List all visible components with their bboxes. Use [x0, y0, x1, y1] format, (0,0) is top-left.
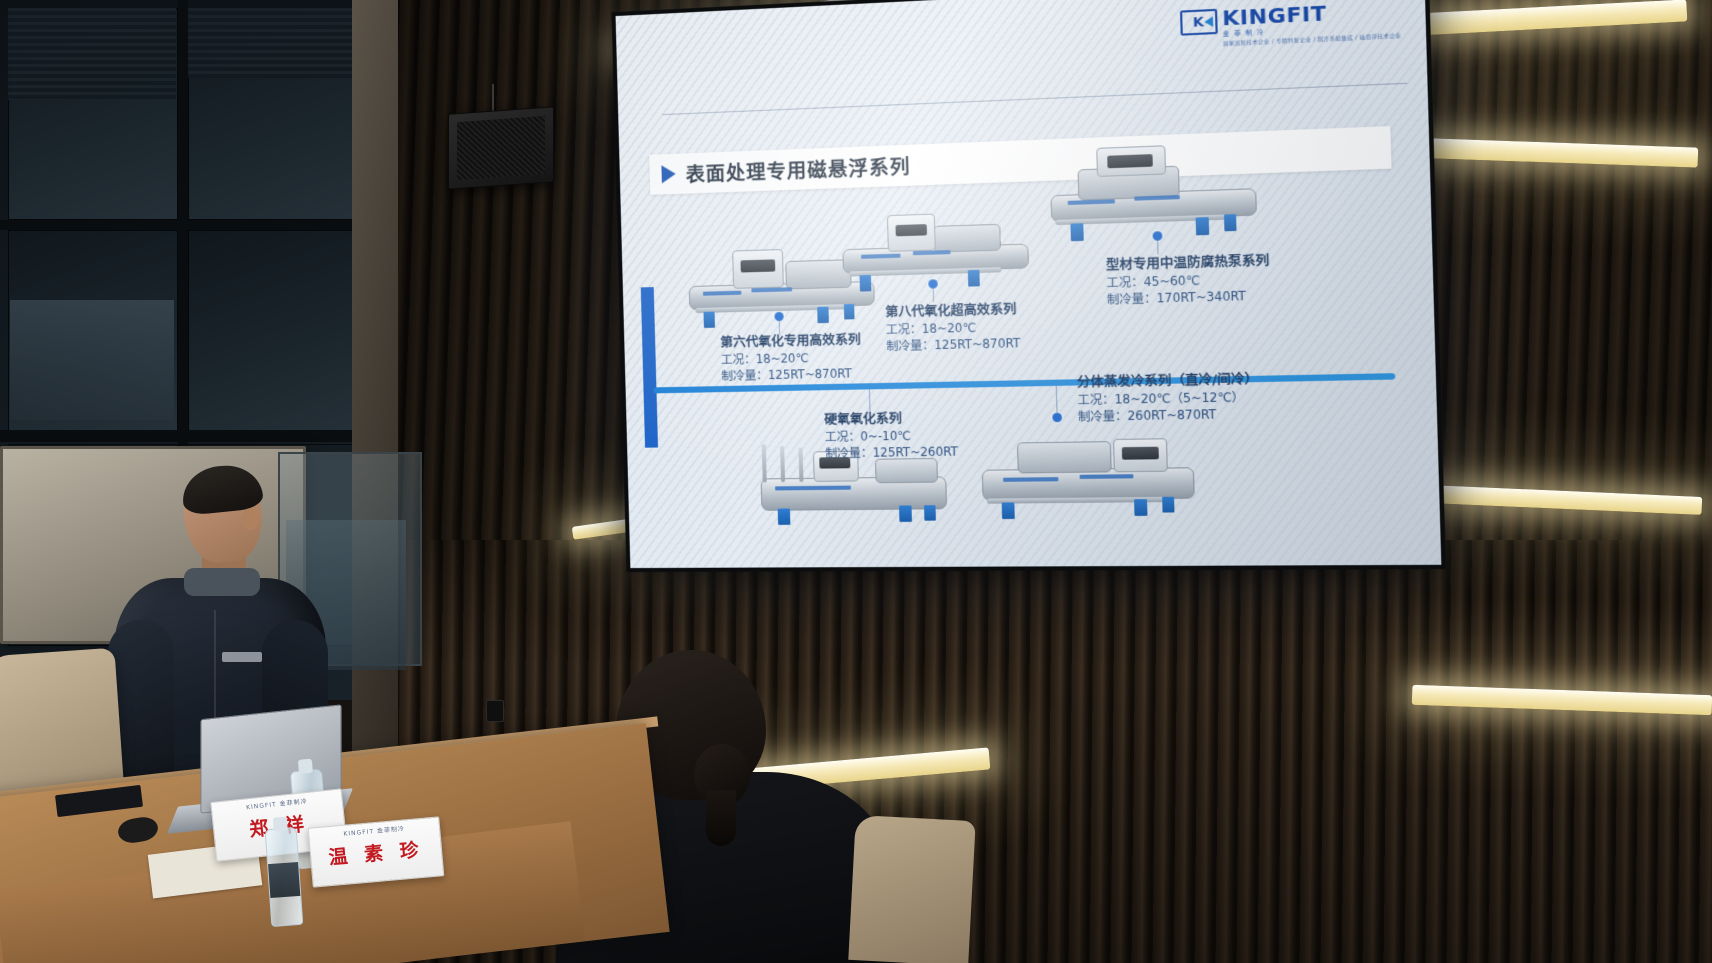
presenter-ear	[242, 508, 259, 530]
callout-capacity: 制冷量：260RT~870RT	[1078, 405, 1260, 425]
water-bottle	[265, 827, 304, 927]
chiller-illustration-split-evap	[980, 421, 1197, 519]
window-blind	[8, 8, 176, 100]
window-reflection	[10, 300, 174, 420]
callout-capacity: 制冷量：125RT~870RT	[721, 365, 862, 384]
callout-title: 硬氧氧化系列	[824, 408, 957, 428]
ceiling-speaker	[448, 106, 554, 189]
nameplate-name: 温 素 珍	[327, 834, 424, 869]
callout-title: 第八代氧化超高效系列	[885, 300, 1020, 322]
presentation-slide: K KINGFIT 金 菲 制 冷 国家高新技术企业 / 专精特新企业 / 制冷…	[616, 0, 1442, 568]
chiller-illustration-heatpump	[1049, 140, 1257, 241]
callout-title: 第六代氧化专用高效系列	[720, 330, 861, 351]
callout-heatpump: 型材专用中温防腐热泵系列 工况：45~60℃ 制冷量：170RT~340RT	[1106, 251, 1271, 308]
callout-capacity: 制冷量：125RT~870RT	[886, 335, 1021, 355]
brand-logo: K KINGFIT 金 菲 制 冷 国家高新技术企业 / 专精特新企业 / 制冷…	[1180, 0, 1402, 49]
callout-gen8: 第八代氧化超高效系列 工况：18~20℃ 制冷量：125RT~870RT	[885, 300, 1021, 355]
window-blind	[188, 8, 366, 78]
window-mullion	[0, 220, 392, 230]
callout-condition: 工况：0~-10℃	[825, 427, 958, 446]
projection-screen[interactable]: K KINGFIT 金 菲 制 冷 国家高新技术企业 / 专精特新企业 / 制冷…	[611, 0, 1446, 572]
callout-condition: 工况：18~20℃（5~12℃）	[1077, 388, 1259, 408]
meeting-chair-right	[848, 815, 975, 963]
callout-capacity: 制冷量：125RT~260RT	[825, 443, 958, 461]
slide-title-bar: 表面处理专用磁悬浮系列	[649, 126, 1391, 195]
attendee-ponytail	[706, 790, 736, 846]
kf-monogram-icon: K	[1180, 9, 1218, 36]
callout-gen6: 第六代氧化专用高效系列 工况：18~20℃ 制冷量：125RT~870RT	[720, 330, 862, 384]
callout-leader	[933, 288, 934, 302]
title-arrow-icon	[661, 165, 675, 184]
presenter-jacket-logo	[222, 652, 262, 662]
callout-leader	[1157, 240, 1158, 255]
callout-hard-anodizing: 硬氧氧化系列 工况：0~-10℃ 制冷量：125RT~260RT	[824, 408, 958, 462]
slide-left-accent-tab	[641, 287, 658, 448]
window-mullion	[0, 430, 392, 442]
callout-leader	[1056, 386, 1058, 415]
callout-capacity: 制冷量：170RT~340RT	[1107, 287, 1271, 308]
header-rule	[662, 83, 1407, 115]
nameplate-wen-suzhen: KINGFIT 金菲制冷 温 素 珍	[308, 816, 445, 887]
slide-title: 表面处理专用磁悬浮系列	[685, 151, 911, 187]
conference-room-scene: K KINGFIT 金 菲 制 冷 国家高新技术企业 / 专精特新企业 / 制冷…	[0, 0, 1712, 963]
chiller-illustration-gen8	[841, 202, 1031, 290]
presenter-collar	[184, 568, 260, 596]
window-pane	[188, 230, 368, 432]
wall-socket	[486, 700, 504, 722]
callout-split-evap: 分体蒸发冷系列（直冷/间冷） 工况：18~20℃（5~12℃） 制冷量：260R…	[1077, 369, 1260, 425]
